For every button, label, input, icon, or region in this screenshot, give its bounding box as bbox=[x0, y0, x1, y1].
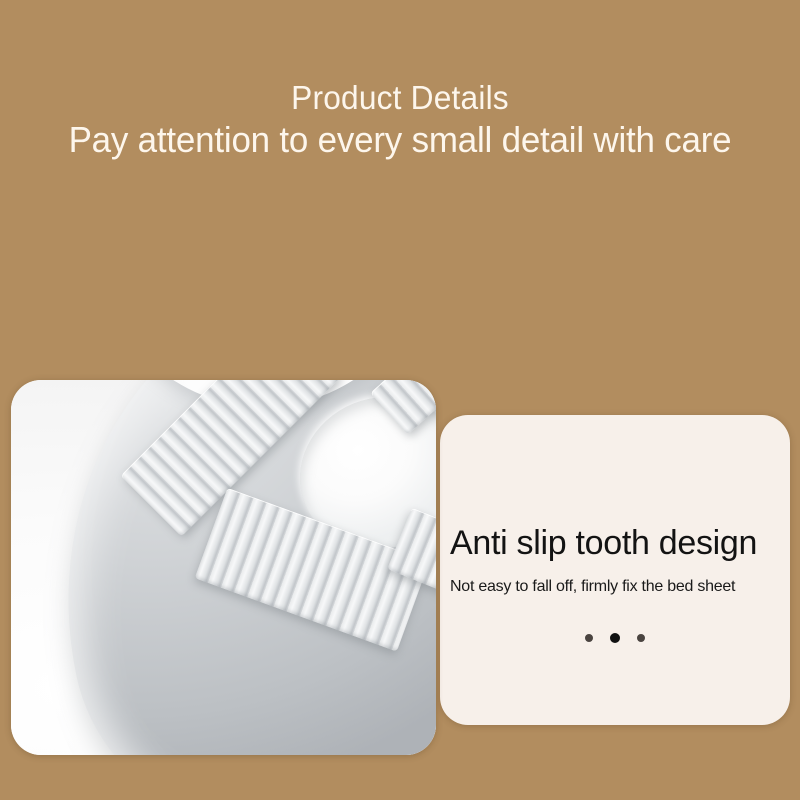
carousel-dot-1[interactable] bbox=[585, 634, 593, 642]
feature-text-card[interactable]: Anti slip tooth design Not easy to fall … bbox=[440, 415, 790, 725]
banner-header: Product Details Pay attention to every s… bbox=[0, 78, 800, 162]
page-title: Product Details bbox=[16, 78, 784, 118]
feature-text-card-inner: Anti slip tooth design Not easy to fall … bbox=[440, 415, 790, 725]
product-photo-card[interactable] bbox=[11, 380, 436, 755]
carousel-dots[interactable] bbox=[440, 633, 790, 643]
feature-subtitle: Not easy to fall off, firmly fix the bed… bbox=[450, 576, 785, 598]
page-subtitle: Pay attention to every small detail with… bbox=[12, 118, 788, 162]
product-detail-banner: Product Details Pay attention to every s… bbox=[0, 0, 800, 800]
carousel-dot-3[interactable] bbox=[637, 634, 645, 642]
carousel-dot-2-active[interactable] bbox=[610, 633, 620, 643]
feature-title: Anti slip tooth design bbox=[450, 523, 790, 563]
